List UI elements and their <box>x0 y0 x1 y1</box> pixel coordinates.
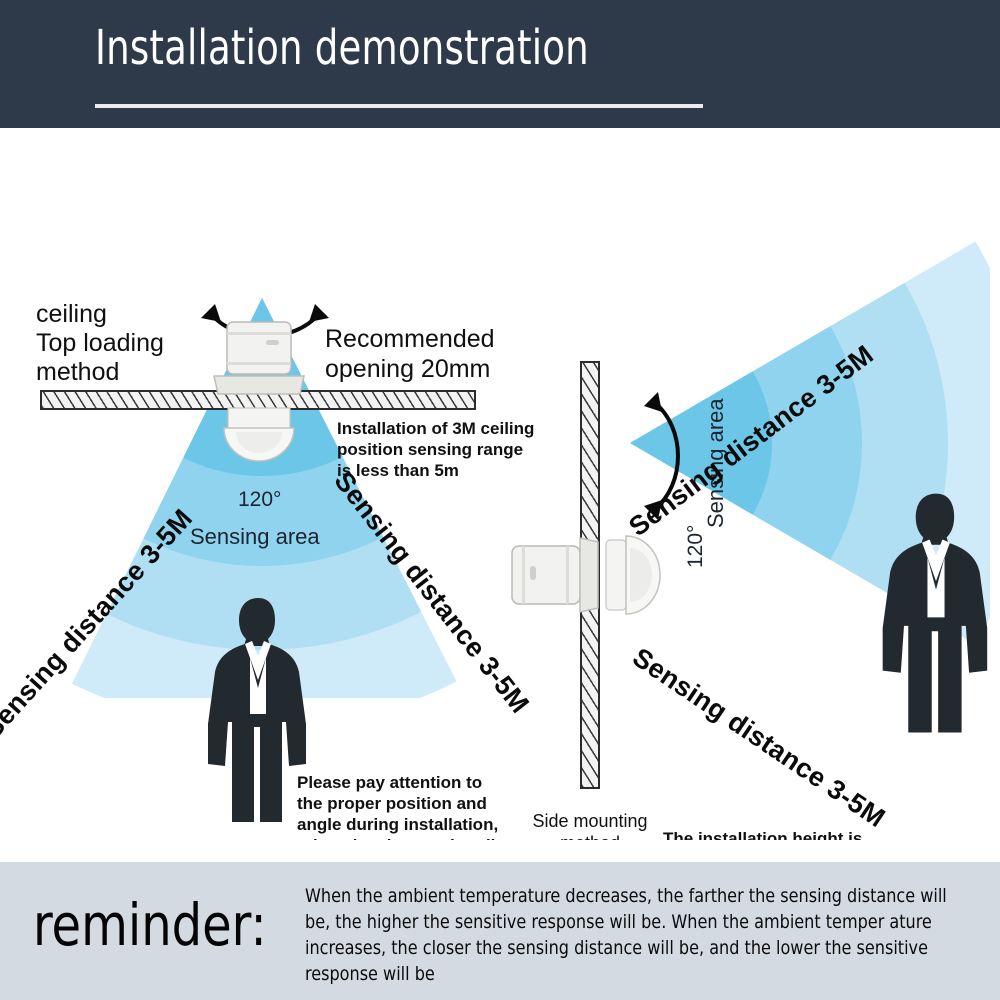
ceiling-sensor-device <box>206 320 312 470</box>
ceiling-sensing-area-label: Sensing area <box>190 524 320 550</box>
ceiling-angle-label: 120° <box>238 488 281 512</box>
ceiling-method-label: ceiling Top loading method <box>36 300 164 387</box>
installation-warning-note: Please pay attention to the proper posit… <box>297 772 541 840</box>
person-silhouette <box>872 486 1000 738</box>
reminder-text: When the ambient temperature decreases, … <box>305 883 954 987</box>
reminder-label: reminder: <box>33 896 267 954</box>
page-header: Installation demonstration <box>0 0 1000 128</box>
page-title: Installation demonstration <box>95 24 589 72</box>
side-mounting-method-label: Side mounting method <box>528 810 652 840</box>
recommended-opening-label: Recommended opening 20mm <box>325 324 495 384</box>
diagram-stage: 120° Sensing area <box>0 128 1000 840</box>
reminder-section: reminder: When the ambient temperature d… <box>0 862 1000 1000</box>
installation-demonstration-page: Installation demonstration 120° <box>0 0 1000 1000</box>
title-underline <box>95 104 703 108</box>
ceiling-range-note: Installation of 3M ceiling position sens… <box>337 418 534 481</box>
side-height-note: The installation height is 15m above the… <box>663 828 887 840</box>
side-angle-label: 120° <box>684 525 708 568</box>
